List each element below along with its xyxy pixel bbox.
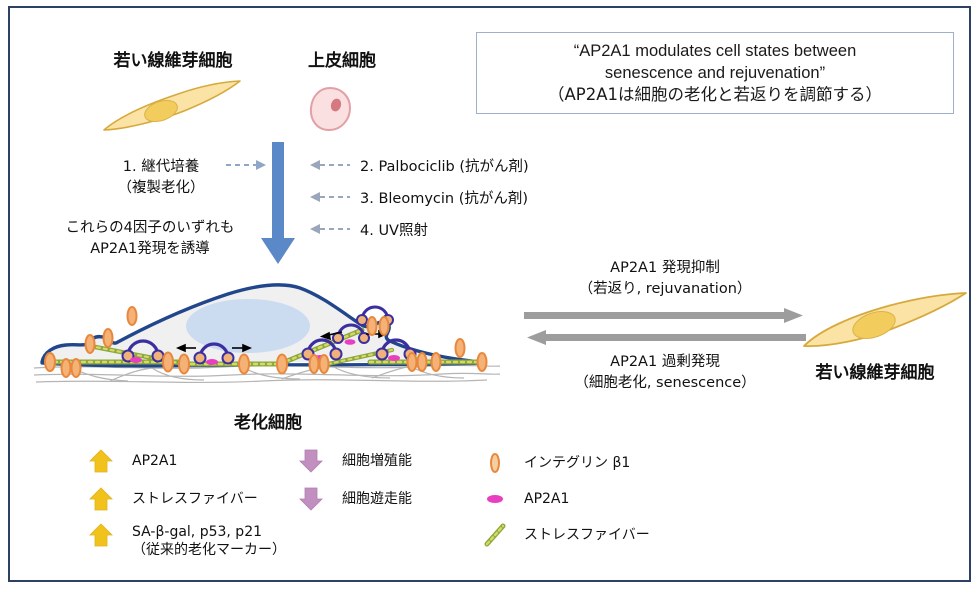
- arrow-up-icon: [88, 522, 114, 548]
- stimulus-1-line1: 1. 継代培養: [96, 155, 226, 176]
- legend-up-label-3-sub: （従来的老化マーカー）: [132, 541, 286, 559]
- rejuvenation-line1: AP2A1 発現抑制: [530, 256, 800, 277]
- rejuvenation-label: AP2A1 発現抑制 （若返り, rejuvanation）: [530, 256, 800, 298]
- young-fibroblast-right-label: 若い線維芽細胞: [780, 358, 970, 383]
- induction-note-line2: AP2A1発現を誘導: [42, 237, 258, 258]
- title-box: “AP2A1 modulates cell states between sen…: [476, 32, 954, 114]
- epithelial-cell-icon: [306, 84, 354, 136]
- legend-symbol-row-3: ストレスファイバー: [482, 522, 650, 548]
- legend-symbol-label-3: ストレスファイバー: [524, 522, 650, 544]
- figure-frame: “AP2A1 modulates cell states between sen…: [8, 6, 971, 582]
- senescence-line2: （細胞老化, senescence）: [530, 371, 800, 392]
- arrow-left-senescence: [527, 330, 806, 345]
- legend-symbol-row-1: インテグリン β1: [482, 450, 630, 476]
- legend-up-row-3: SA-β-gal, p53, p21 （従来的老化マーカー）: [88, 522, 286, 559]
- legend-down-row-2: 細胞遊走能: [298, 486, 412, 512]
- figure-page: “AP2A1 modulates cell states between sen…: [0, 0, 979, 589]
- senescent-nucleus: [186, 299, 310, 353]
- legend-down-label-2: 細胞遊走能: [342, 486, 412, 508]
- legend-up-row-2: ストレスファイバー: [88, 486, 258, 512]
- integrin-beta1-icon: [482, 450, 508, 476]
- stimulus-1-line2: （複製老化）: [96, 176, 226, 197]
- stimulus-3-label: 3. Bleomycin (抗がん剤): [360, 187, 528, 208]
- young-fibroblast-heading: 若い線維芽細胞: [78, 46, 268, 71]
- stimulus-2-label: 2. Palbociclib (抗がん剤): [360, 155, 529, 176]
- title-japanese: （AP2A1は細胞の老化と若返りを調節する）: [548, 84, 882, 106]
- stimulus-2-dashed-arrow: [306, 158, 350, 172]
- induction-note: これらの4因子のいずれも AP2A1発現を誘導: [42, 216, 258, 258]
- rejuvenation-line2: （若返り, rejuvanation）: [530, 277, 800, 298]
- legend-up-label-2: ストレスファイバー: [132, 486, 258, 508]
- young-fibroblast-cell-right-icon: [800, 290, 970, 356]
- young-fibroblast-cell-icon: [98, 78, 248, 136]
- transition-arrows: [520, 306, 810, 354]
- arrow-down-icon: [298, 486, 324, 512]
- stress-fiber-icon: [482, 522, 508, 548]
- arrow-right-rejuvenation: [524, 308, 803, 323]
- arrow-up-icon: [88, 448, 114, 474]
- senescence-line1: AP2A1 過剰発現: [530, 350, 800, 371]
- legend-symbol-label-1: インテグリン β1: [524, 450, 630, 472]
- legend-up-row-1: AP2A1: [88, 448, 177, 474]
- arrow-up-icon: [88, 486, 114, 512]
- title-quote-line2: senescence and rejuvenation”: [548, 62, 882, 84]
- ecm-lines: [34, 365, 500, 382]
- ap2a1-dot-icon: [482, 486, 508, 512]
- senescent-cell-diagram: [32, 276, 502, 398]
- legend-down-label-1: 細胞増殖能: [342, 448, 412, 470]
- legend-symbol-row-2: AP2A1: [482, 486, 569, 512]
- epithelial-heading: 上皮細胞: [272, 46, 412, 71]
- legend-up-label-3: SA-β-gal, p53, p21: [132, 523, 286, 541]
- stimulus-4-dashed-arrow: [306, 222, 350, 236]
- legend-symbol-label-2: AP2A1: [524, 486, 569, 508]
- legend-up-label-1: AP2A1: [132, 448, 177, 470]
- induction-note-line1: これらの4因子のいずれも: [42, 216, 258, 237]
- legend-down-row-1: 細胞増殖能: [298, 448, 412, 474]
- title-quote-line1: “AP2A1 modulates cell states between: [548, 40, 882, 62]
- senescence-label: AP2A1 過剰発現 （細胞老化, senescence）: [530, 350, 800, 392]
- stimulus-4-label: 4. UV照射: [360, 219, 428, 240]
- stimulus-1-dashed-arrow: [226, 158, 270, 172]
- stimulus-1-label: 1. 継代培養 （複製老化）: [96, 155, 226, 197]
- stimulus-3-dashed-arrow: [306, 190, 350, 204]
- senescent-cell-label: 老化細胞: [178, 408, 358, 433]
- arrow-down-icon: [298, 448, 324, 474]
